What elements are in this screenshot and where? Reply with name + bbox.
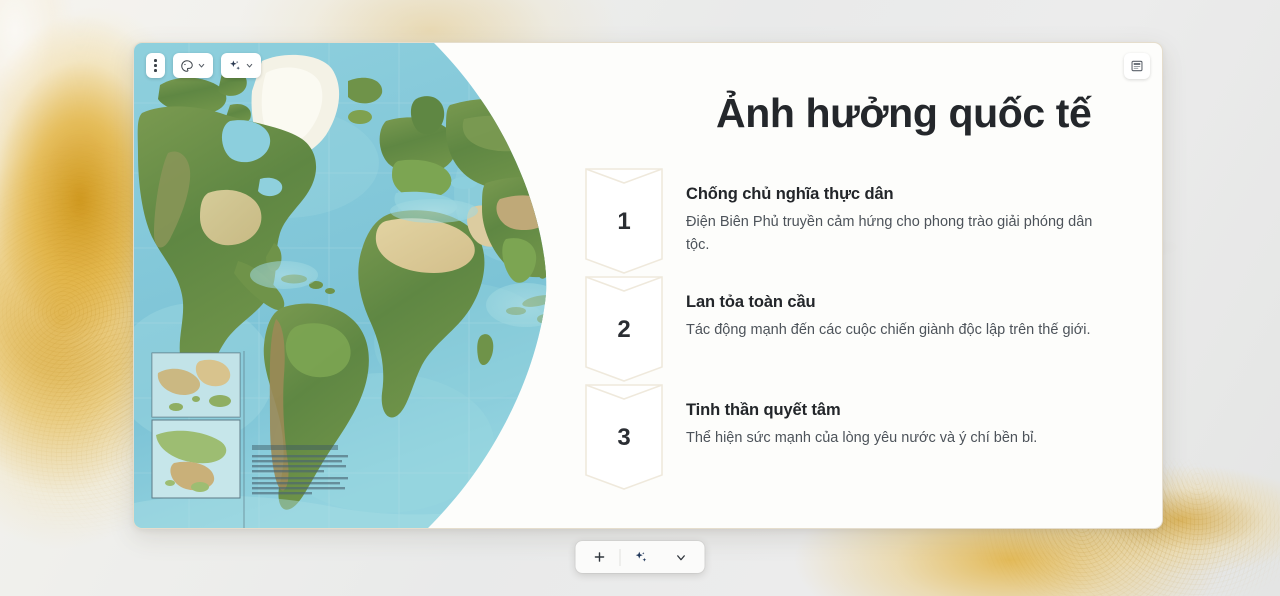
point-body: Tinh thần quyết tâm Thể hiện sức mạnh củ…	[686, 383, 1037, 450]
speaker-notes-icon	[1130, 59, 1144, 73]
slide-image-container[interactable]	[134, 43, 554, 528]
point-number: 1	[617, 206, 630, 236]
list-item[interactable]: 3 Tinh thần quyết tâm Thể hiện sức mạnh …	[582, 383, 1116, 491]
more-options-icon	[154, 59, 157, 72]
palette-icon	[180, 59, 194, 73]
map-clip	[134, 43, 554, 528]
chevron-down-icon	[197, 61, 206, 70]
plus-icon	[593, 550, 607, 564]
ai-generate-button[interactable]	[621, 544, 661, 570]
point-description: Điện Biên Phủ truyền cảm hứng cho phong …	[686, 211, 1116, 257]
map-inset-lower	[152, 420, 240, 498]
speaker-notes-button[interactable]	[1124, 53, 1150, 79]
sparkles-icon	[633, 550, 648, 565]
point-body: Lan tỏa toàn cầu Tác động mạnh đến các c…	[686, 275, 1091, 342]
theme-button[interactable]	[173, 53, 213, 78]
more-options-button[interactable]	[146, 53, 165, 78]
point-description: Thể hiện sức mạnh của lòng yêu nước và ý…	[686, 427, 1037, 450]
sparkles-icon	[228, 59, 242, 73]
add-slide-button[interactable]	[580, 544, 620, 570]
world-physical-map	[134, 43, 554, 528]
point-title: Tinh thần quyết tâm	[686, 401, 1037, 420]
point-number-badge: 1	[582, 167, 666, 275]
point-number-badge: 2	[582, 275, 666, 383]
map-inset-upper	[152, 353, 240, 417]
point-description: Tác động mạnh đến các cuộc chiến giành đ…	[686, 319, 1091, 342]
expand-toolbar-button[interactable]	[661, 544, 701, 570]
bottom-toolbar[interactable]	[576, 541, 705, 573]
slide-canvas[interactable]: Ảnh hưởng quốc tế 1 Chống chủ nghĩa thực…	[133, 42, 1163, 529]
point-number: 3	[617, 422, 630, 452]
chevron-down-icon	[674, 551, 687, 564]
slide-content: Ảnh hưởng quốc tế 1 Chống chủ nghĩa thực…	[564, 43, 1162, 528]
point-title: Lan tỏa toàn cầu	[686, 293, 1091, 312]
chevron-down-icon	[245, 61, 254, 70]
page-title: Ảnh hưởng quốc tế	[716, 91, 1116, 137]
list-item[interactable]: 1 Chống chủ nghĩa thực dân Điện Biên Phủ…	[582, 167, 1116, 275]
list-item[interactable]: 2 Lan tỏa toàn cầu Tác động mạnh đến các…	[582, 275, 1116, 383]
points-list: 1 Chống chủ nghĩa thực dân Điện Biên Phủ…	[582, 167, 1116, 491]
point-number-badge: 3	[582, 383, 666, 491]
point-number: 2	[617, 314, 630, 344]
ai-assist-button[interactable]	[221, 53, 261, 78]
slide-floating-toolbar[interactable]	[146, 53, 261, 78]
point-body: Chống chủ nghĩa thực dân Điện Biên Phủ t…	[686, 167, 1116, 257]
point-title: Chống chủ nghĩa thực dân	[686, 185, 1116, 204]
